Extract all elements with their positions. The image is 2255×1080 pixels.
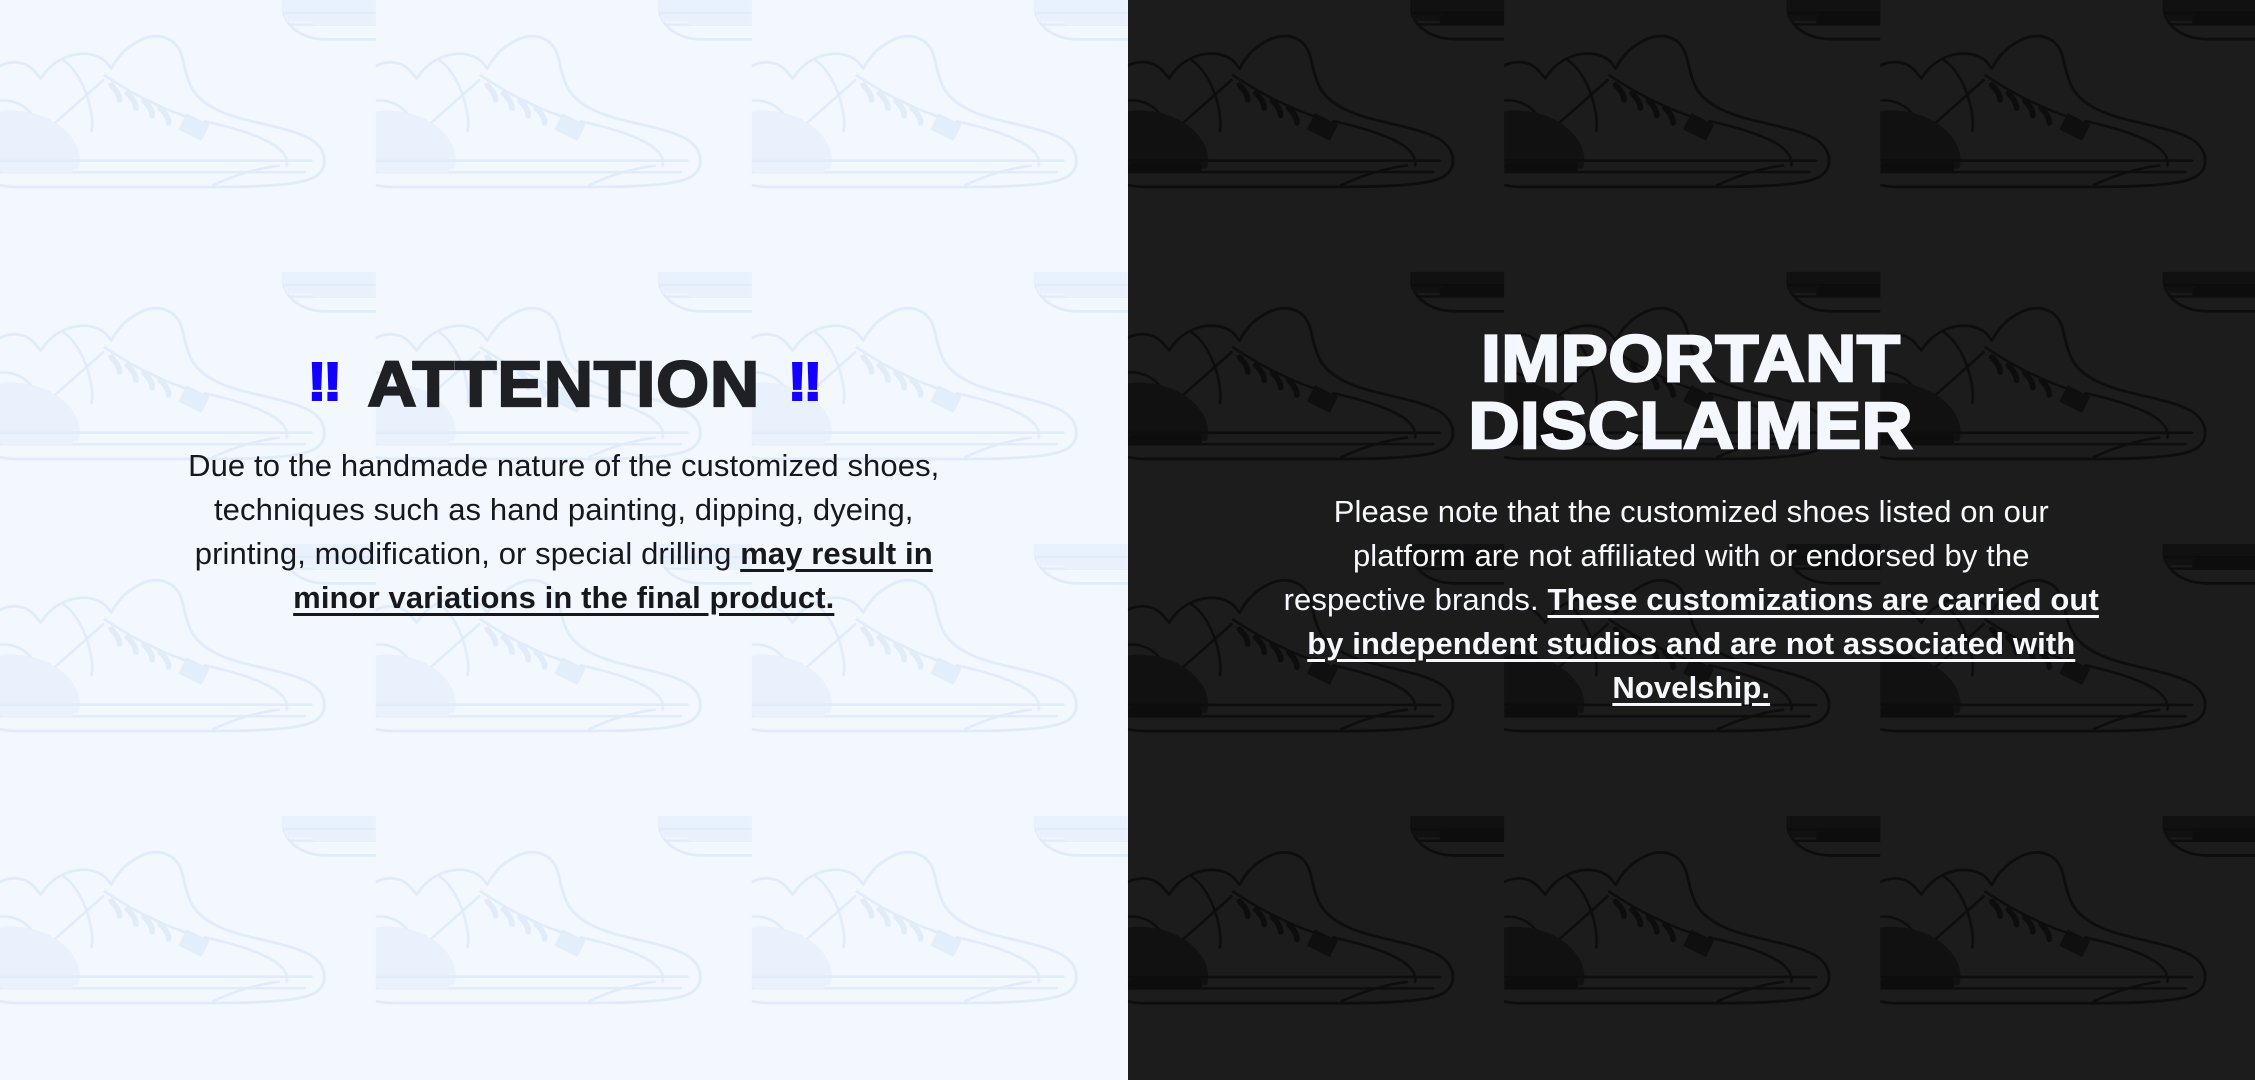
- attention-heading: ‼ ATTENTION ‼: [307, 352, 820, 416]
- disclaimer-heading-line1: IMPORTANT: [1482, 321, 1901, 395]
- attention-body: Due to the handmade nature of the custom…: [164, 444, 964, 620]
- disclaimer-banner: ‼ ATTENTION ‼ Due to the handmade nature…: [0, 0, 2255, 1080]
- attention-content: ‼ ATTENTION ‼ Due to the handmade nature…: [0, 0, 1128, 620]
- double-exclamation-left-icon: ‼: [307, 355, 339, 409]
- disclaimer-panel: IMPORTANT DISCLAIMER Please note that th…: [1128, 0, 2255, 1080]
- double-exclamation-right-icon: ‼: [788, 355, 820, 409]
- attention-heading-text: ATTENTION: [367, 352, 760, 416]
- disclaimer-content: IMPORTANT DISCLAIMER Please note that th…: [1128, 0, 2255, 710]
- disclaimer-heading-line2: DISCLAIMER: [1469, 388, 1914, 462]
- attention-panel: ‼ ATTENTION ‼ Due to the handmade nature…: [0, 0, 1128, 1080]
- disclaimer-heading: IMPORTANT DISCLAIMER: [1469, 325, 1914, 460]
- disclaimer-body: Please note that the customized shoes li…: [1281, 490, 2101, 710]
